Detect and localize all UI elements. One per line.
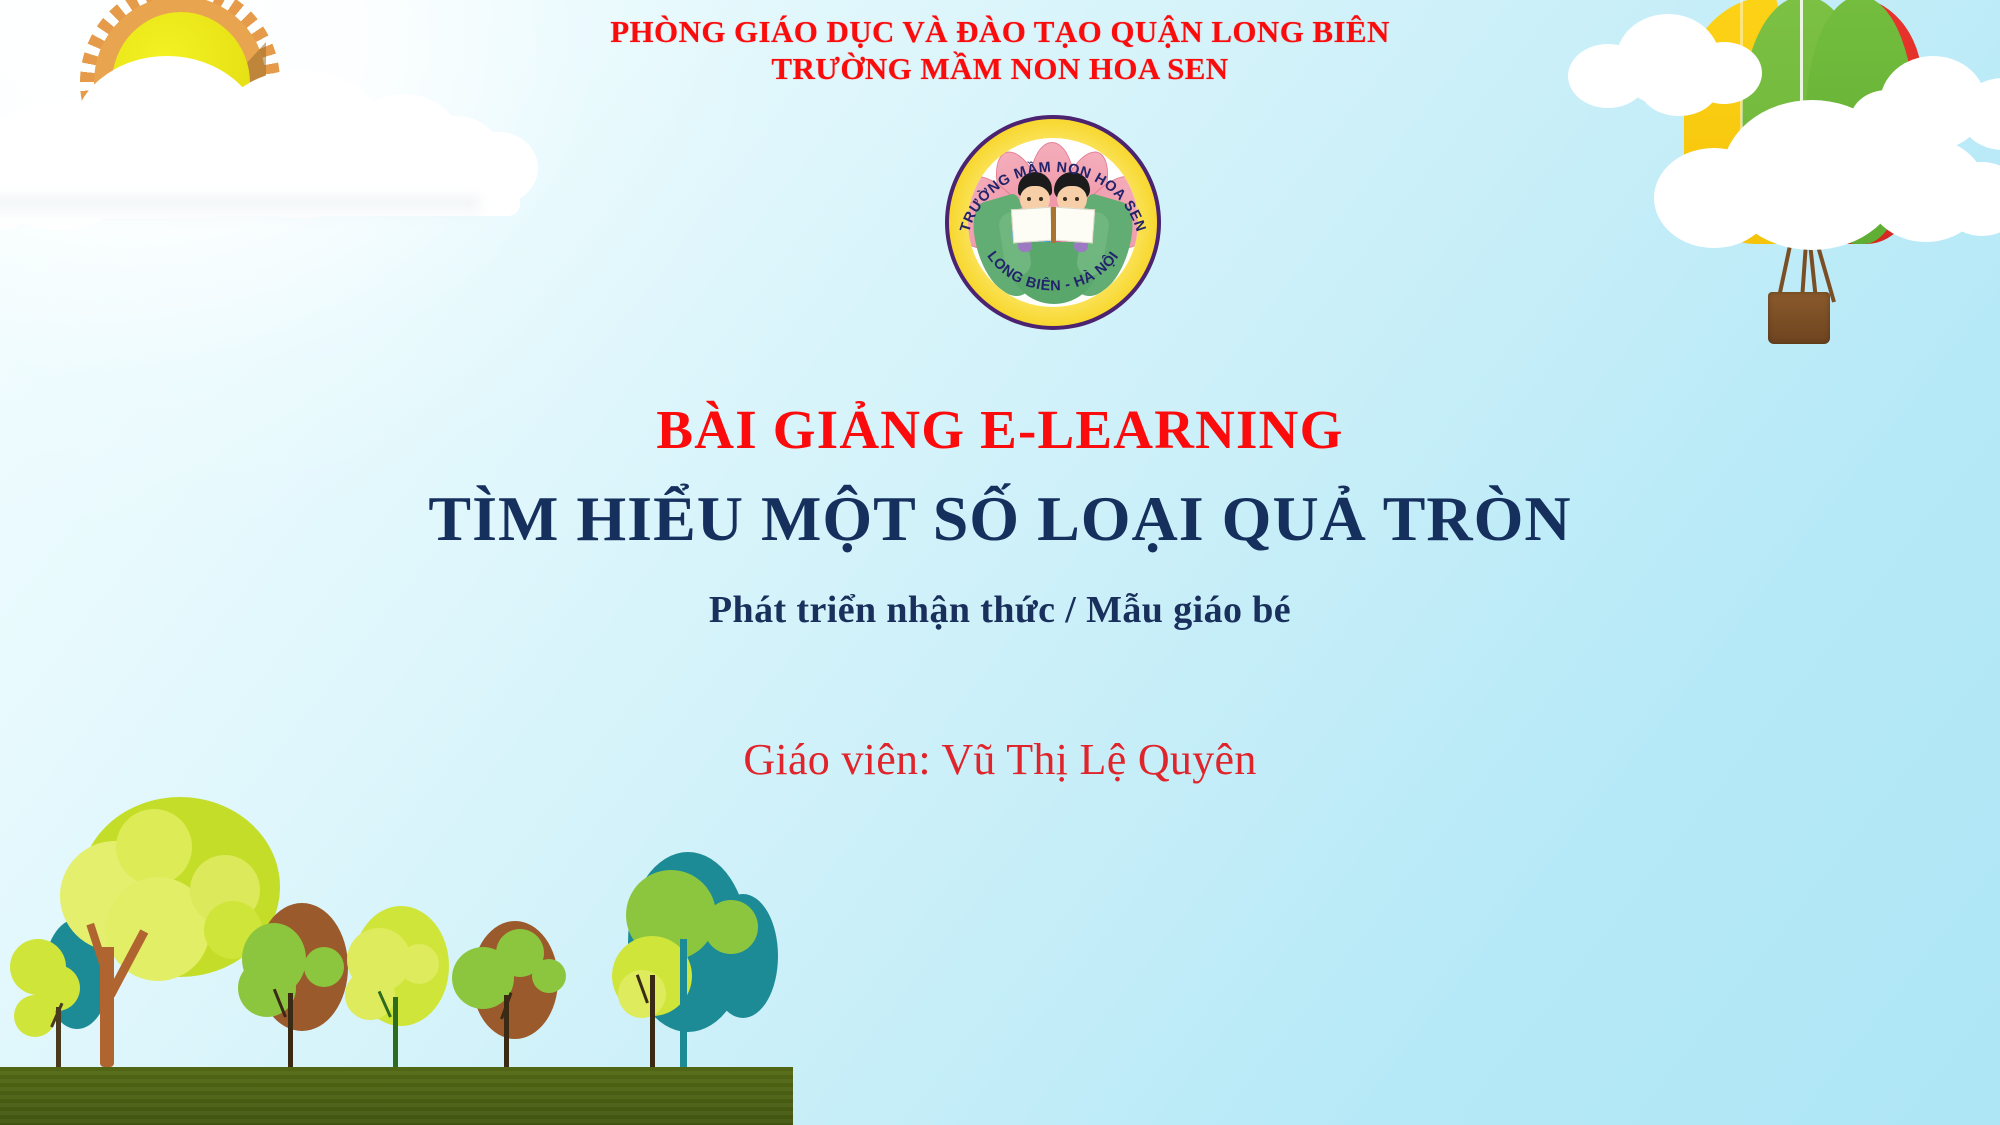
page-title-lesson: TÌM HIỂU MỘT SỐ LOẠI QUẢ TRÒN <box>0 482 2000 556</box>
tree-icon <box>450 907 580 1067</box>
ground-strip <box>0 1067 793 1125</box>
slide-canvas: PHÒNG GIÁO DỤC VÀ ĐÀO TẠO QUẬN LONG BIÊN… <box>0 0 2000 1125</box>
school-logo: TRƯỜNG MẦM NON HOA SEN LONG BIÊN - HÀ NỘ… <box>945 115 1161 330</box>
cloud-shadow <box>0 196 480 222</box>
header-line-1: PHÒNG GIÁO DỤC VÀ ĐÀO TẠO QUẬN LONG BIÊN <box>610 14 1390 49</box>
book-icon <box>1012 208 1096 242</box>
header-line-2: TRƯỜNG MẦM NON HOA SEN <box>0 51 2000 88</box>
lesson-subtitle: Phát triển nhận thức / Mẫu giáo bé <box>0 588 2000 632</box>
header-organization: PHÒNG GIÁO DỤC VÀ ĐÀO TẠO QUẬN LONG BIÊN… <box>0 14 2000 87</box>
page-title-elearning: BÀI GIẢNG E-LEARNING <box>0 398 2000 461</box>
tree-icon <box>608 852 778 1067</box>
cloud-icon <box>1640 100 2000 260</box>
teacher-name: Giáo viên: Vũ Thị Lệ Quyên <box>0 734 2000 785</box>
tree-icon <box>345 902 465 1067</box>
